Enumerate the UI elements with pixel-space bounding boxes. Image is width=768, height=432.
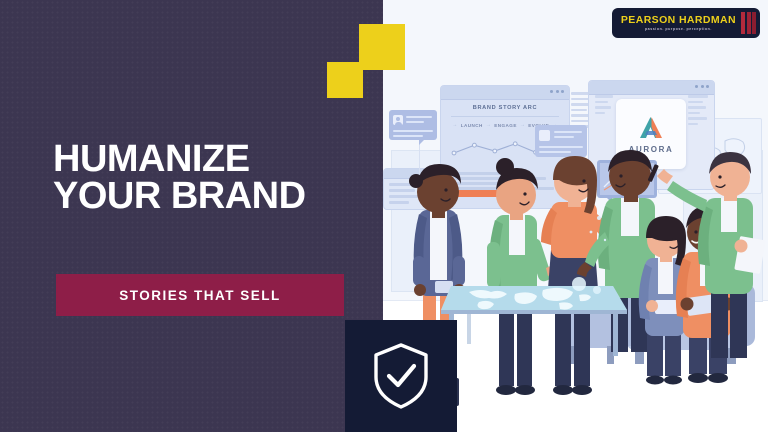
shield-badge [345, 320, 457, 432]
logo-bars-icon [741, 12, 756, 34]
logo-text: PEARSON HARDMAN passion. purpose. percep… [621, 15, 736, 32]
shield-check-icon [370, 341, 432, 411]
page-title: HUMANIZE YOUR BRAND [53, 141, 363, 215]
yellow-square-small [327, 62, 363, 98]
subtitle-text: STORIES THAT SELL [119, 288, 281, 303]
logo-name: PEARSON HARDMAN [621, 15, 736, 26]
headline-line-2: YOUR BRAND [53, 178, 363, 215]
logo-tagline: passion. purpose. perception. [621, 28, 736, 32]
subtitle-band: STORIES THAT SELL [56, 274, 344, 316]
brand-logo[interactable]: PEARSON HARDMAN passion. purpose. percep… [612, 8, 760, 38]
headline-line-1: HUMANIZE [53, 138, 250, 180]
yellow-square-large [359, 24, 405, 70]
slide-canvas: AURORA BRAND STORY ARC → LAUNCH → ENGAGE… [0, 0, 768, 432]
